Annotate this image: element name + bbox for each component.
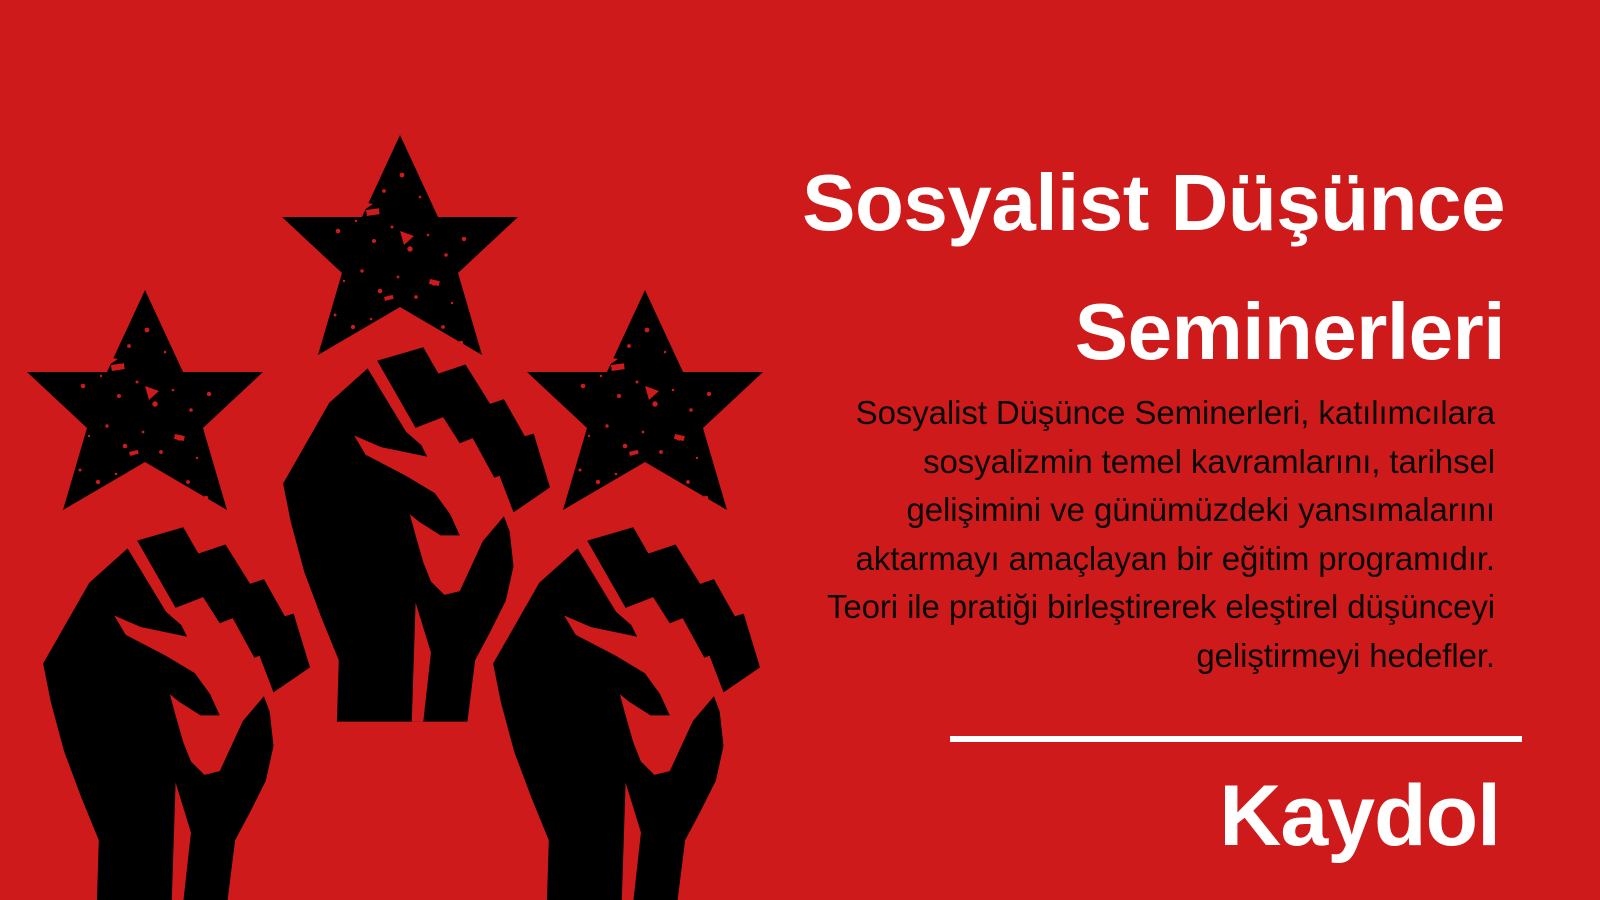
content-panel: Sosyalist Düşünce Seminerleri Sosyalist …: [800, 0, 1600, 900]
star-icon-top: [282, 135, 518, 355]
signup-cta[interactable]: Kaydol: [900, 767, 1500, 866]
star-icon-left: [27, 290, 263, 510]
divider: [950, 736, 1522, 742]
raised-fist-icon-left: [43, 527, 310, 900]
artwork-panel: [0, 0, 800, 900]
poster-canvas: Sosyalist Düşünce Seminerleri Sosyalist …: [0, 0, 1600, 900]
description-paragraph: Sosyalist Düşünce Seminerleri, katılımcı…: [780, 389, 1495, 680]
page-title: Sosyalist Düşünce Seminerleri: [590, 138, 1505, 397]
raised-fist-icon-right: [493, 527, 760, 900]
